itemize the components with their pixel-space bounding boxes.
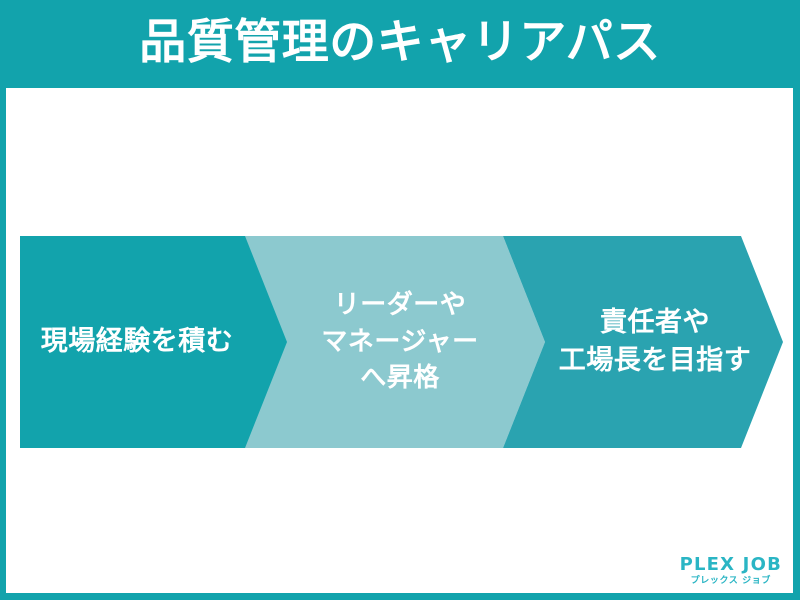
brand-kana: プレックス ジョブ (680, 577, 782, 586)
brand-logo: PLEX JOB プレックス ジョブ (680, 556, 782, 586)
frame-border-bottom (0, 593, 800, 600)
page-title: 品質管理のキャリアパス (139, 19, 661, 69)
flow-step-2: リーダーや マネージャー へ昇格 (245, 236, 545, 448)
flow-step-1: 現場経験を積む (20, 236, 288, 448)
header-banner: 品質管理のキャリアパス (0, 0, 800, 88)
flow-step-3: 責任者や 工場長を目指す (503, 236, 783, 448)
flow-step-3-label: 責任者や 工場長を目指す (559, 304, 752, 381)
brand-name: PLEX JOB (680, 556, 782, 574)
infographic-canvas: 品質管理のキャリアパス 現場経験を積む リーダーや マネージャー へ昇格 責任者… (0, 0, 800, 600)
flow-step-1-label: 現場経験を積む (41, 323, 234, 361)
flow-step-2-label: リーダーや マネージャー へ昇格 (321, 287, 478, 398)
career-path-flow: 現場経験を積む リーダーや マネージャー へ昇格 責任者や 工場長を目指す (0, 236, 800, 448)
